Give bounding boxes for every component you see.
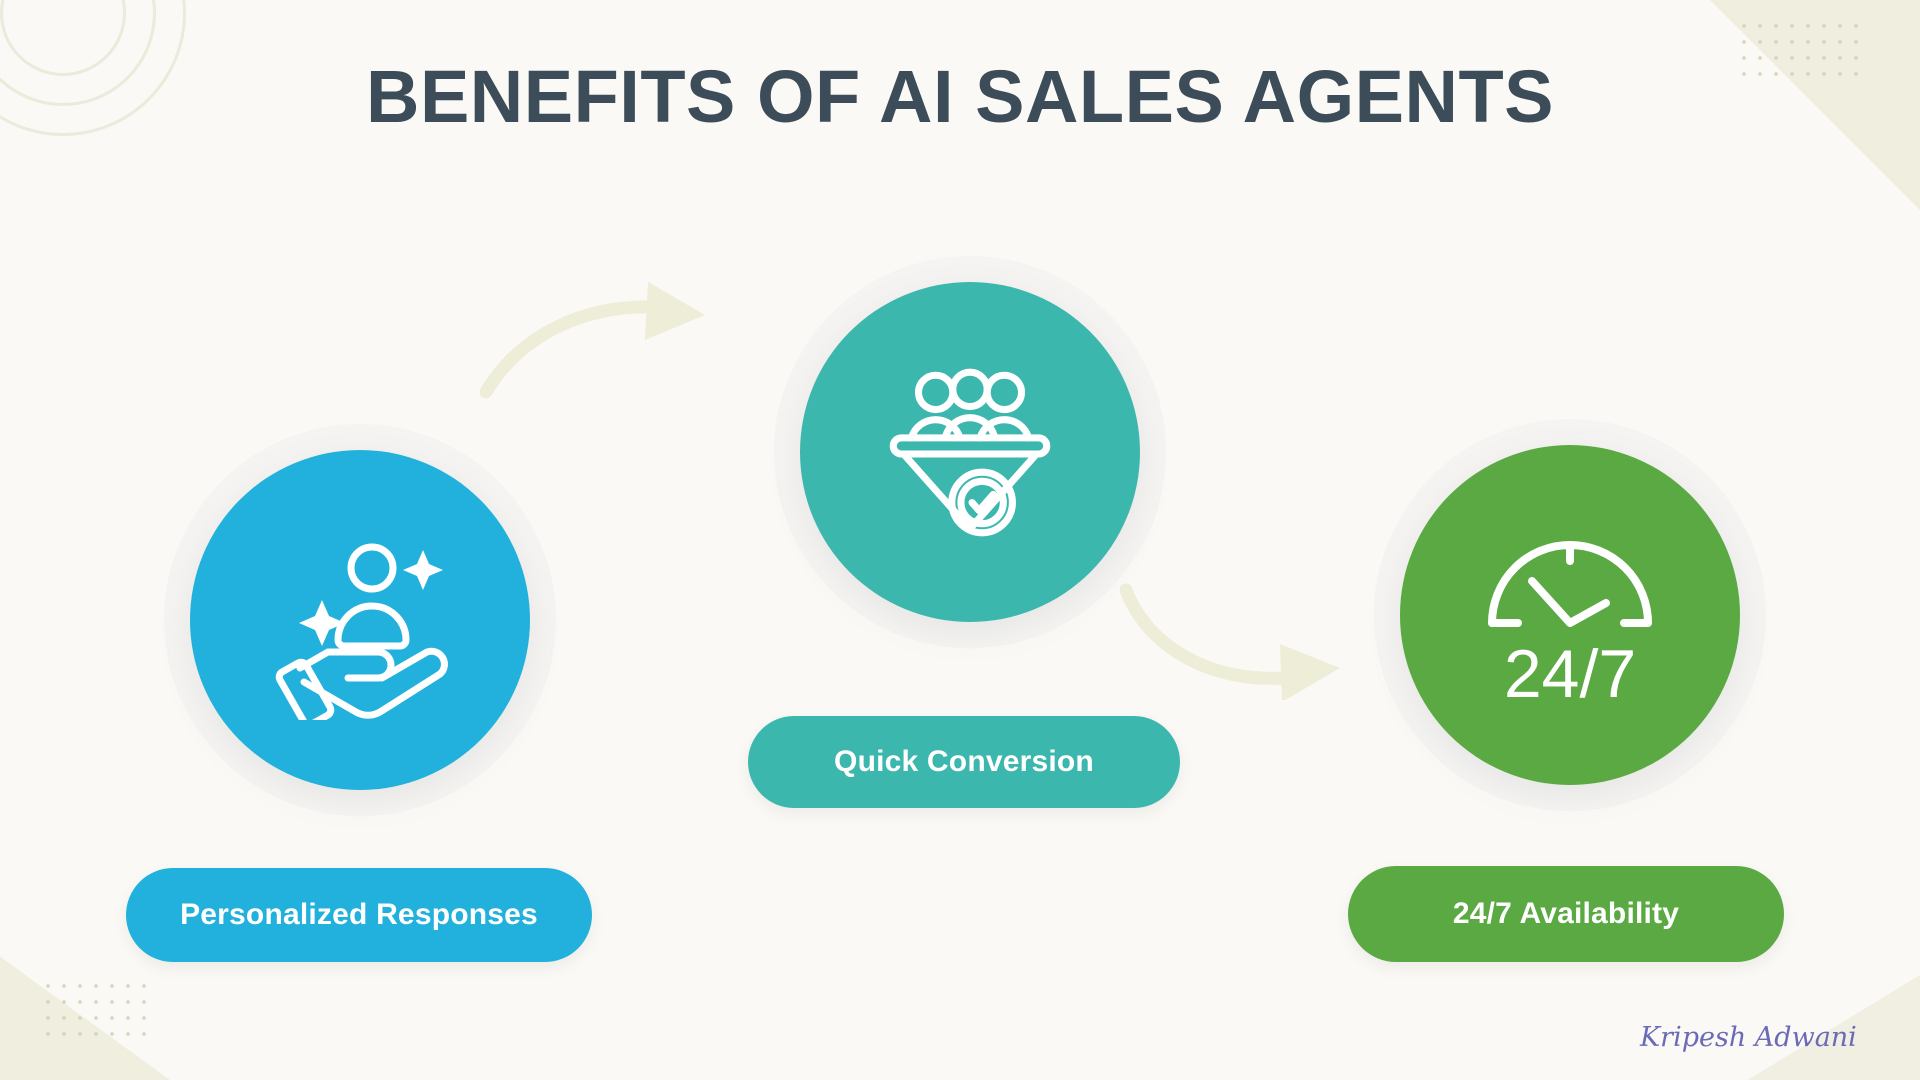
signature-text: Kripesh Adwani [1639,1022,1857,1053]
icon-24-7-text: 24/7 [1504,636,1636,712]
benefit-label-personalized-responses[interactable]: Personalized Responses [126,868,592,962]
benefit-icon-circle-quick-conversion[interactable] [800,282,1140,622]
benefit-label-quick-conversion[interactable]: Quick Conversion [748,716,1180,808]
curved-arrow-right-icon [480,282,740,402]
signature-watermark: Kripesh Adwani [1636,1004,1886,1066]
dot-grid-decoration [40,978,158,1044]
sales-funnel-check-icon [869,351,1071,553]
benefit-icon-circle-personalized-responses[interactable] [190,450,530,790]
benefit-label-24-7-availability[interactable]: 24/7 Availability [1348,866,1784,962]
clock-24-7-icon: 24/7 [1470,515,1670,715]
slide-canvas: BENEFITS OF AI SALES AGENTS [0,0,1920,1080]
benefit-label-text: 24/7 Availability [1453,897,1679,931]
benefit-label-text: Personalized Responses [180,898,538,932]
hand-holding-user-sparkle-icon [260,520,460,720]
curved-arrow-right-icon [1120,580,1370,700]
benefit-label-text: Quick Conversion [834,745,1094,779]
benefit-icon-circle-24-7-availability[interactable]: 24/7 [1400,445,1740,785]
page-title: BENEFITS OF AI SALES AGENTS [0,56,1920,137]
